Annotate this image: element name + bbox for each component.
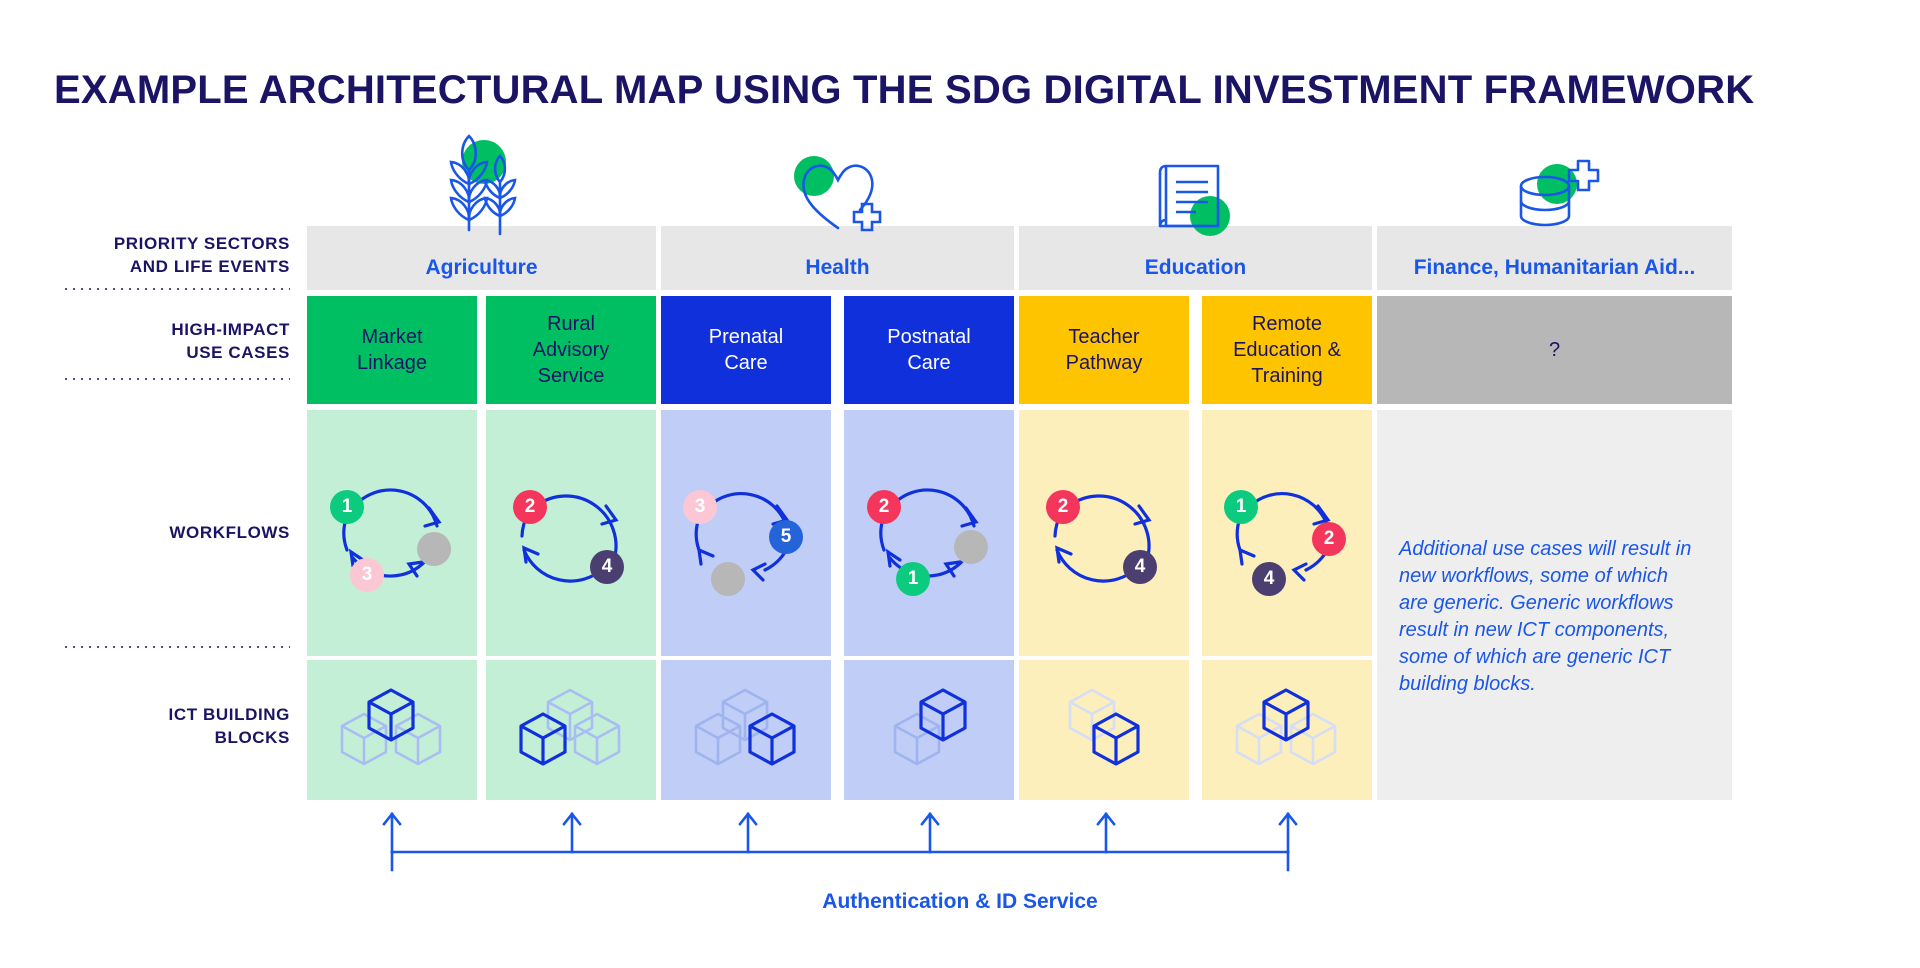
row-label-use-cases-line1: HIGH-IMPACT <box>60 318 290 341</box>
use-case-market-linkage-line2: Linkage <box>357 350 427 376</box>
wheat-icon <box>307 130 656 238</box>
divider-workflows <box>62 646 290 648</box>
use-case-unknown-label: ? <box>1549 337 1560 363</box>
sector-health[interactable]: Health <box>661 226 1014 290</box>
use-case-teacher-line2: Pathway <box>1066 350 1143 376</box>
workflow-node-generic <box>417 532 451 566</box>
cubes-icon <box>1019 660 1189 782</box>
use-case-remote-line3: Training <box>1233 363 1341 389</box>
row-label-building-blocks: ICT BUILDING BLOCKS <box>60 703 290 749</box>
heart-cross-icon <box>661 150 1014 238</box>
workflow-node-1: 1 <box>896 562 930 596</box>
use-case-teacher-line1: Teacher <box>1066 324 1143 350</box>
row-label-priority-sectors-line1: PRIORITY SECTORS <box>60 232 290 255</box>
sector-label-health: Health <box>661 256 1014 280</box>
use-case-market-linkage[interactable]: Market Linkage <box>307 296 477 404</box>
building-blocks-postnatal-care[interactable] <box>844 660 1014 800</box>
workflow-node-3-label: 3 <box>695 496 706 518</box>
row-label-workflows-text: WORKFLOWS <box>60 521 290 544</box>
building-blocks-rural-advisory[interactable] <box>486 660 656 800</box>
use-case-postnatal-line1: Postnatal <box>887 324 970 350</box>
workflow-node-5-label: 5 <box>781 526 792 548</box>
sector-label-finance: Finance, Humanitarian Aid... <box>1377 256 1732 280</box>
row-label-workflows: WORKFLOWS <box>60 521 290 544</box>
workflow-node-1-label: 1 <box>1236 496 1247 518</box>
use-case-postnatal-line2: Care <box>887 350 970 376</box>
divider-sectors <box>62 288 290 290</box>
book-icon <box>1019 154 1372 238</box>
workflow-remote-education[interactable]: 1 2 4 <box>1202 410 1372 656</box>
sector-label-education: Education <box>1019 256 1372 280</box>
workflow-node-4: 4 <box>1123 550 1157 584</box>
building-blocks-remote-education[interactable] <box>1202 660 1372 800</box>
sector-education[interactable]: Education <box>1019 226 1372 290</box>
workflow-node-3-label: 3 <box>362 564 373 586</box>
row-label-priority-sectors: PRIORITY SECTORS AND LIFE EVENTS <box>60 232 290 278</box>
row-label-building-blocks-line1: ICT BUILDING <box>60 703 290 726</box>
workflow-node-1: 1 <box>330 490 364 524</box>
cubes-icon <box>844 660 1014 782</box>
building-blocks-market-linkage[interactable] <box>307 660 477 800</box>
use-case-prenatal-care[interactable]: Prenatal Care <box>661 296 831 404</box>
workflow-teacher-pathway[interactable]: 2 4 <box>1019 410 1189 656</box>
use-case-rural-advisory-line1: Rural <box>533 311 610 337</box>
workflow-node-2-label: 2 <box>879 496 890 518</box>
row-label-building-blocks-line2: BLOCKS <box>60 726 290 749</box>
workflow-node-3: 3 <box>350 558 384 592</box>
authentication-service-label: Authentication & ID Service <box>0 890 1920 914</box>
workflow-node-2: 2 <box>513 490 547 524</box>
authentication-bus-connector <box>300 800 1400 880</box>
finance-note-text: Additional use cases will result in new … <box>1399 536 1699 698</box>
workflow-postnatal-care[interactable]: 2 1 <box>844 410 1014 656</box>
use-case-remote-line1: Remote <box>1233 311 1341 337</box>
cubes-icon <box>661 660 831 782</box>
workflow-node-4: 4 <box>590 550 624 584</box>
workflow-node-4-label: 4 <box>1135 556 1146 578</box>
use-case-rural-advisory-line3: Service <box>533 363 610 389</box>
page-title: EXAMPLE ARCHITECTURAL MAP USING THE SDG … <box>54 68 1754 113</box>
use-case-market-linkage-line1: Market <box>357 324 427 350</box>
row-label-use-cases: HIGH-IMPACT USE CASES <box>60 318 290 364</box>
workflow-node-2: 2 <box>1046 490 1080 524</box>
architecture-map: EXAMPLE ARCHITECTURAL MAP USING THE SDG … <box>0 0 1920 968</box>
use-case-prenatal-line2: Care <box>709 350 784 376</box>
workflow-prenatal-care[interactable]: 3 5 <box>661 410 831 656</box>
workflow-node-generic <box>954 530 988 564</box>
workflow-node-4: 4 <box>1252 562 1286 596</box>
workflow-market-linkage[interactable]: 1 3 <box>307 410 477 656</box>
workflow-rural-advisory[interactable]: 2 4 <box>486 410 656 656</box>
use-case-rural-advisory-line2: Advisory <box>533 337 610 363</box>
database-cross-icon <box>1377 156 1732 240</box>
building-blocks-prenatal-care[interactable] <box>661 660 831 800</box>
sector-finance[interactable]: Finance, Humanitarian Aid... <box>1377 226 1732 290</box>
workflow-node-2: 2 <box>1312 522 1346 556</box>
sector-label-agriculture: Agriculture <box>307 256 656 280</box>
cubes-icon <box>1202 660 1372 782</box>
use-case-unknown[interactable]: ? <box>1377 296 1732 404</box>
sector-agriculture[interactable]: Agriculture <box>307 226 656 290</box>
use-case-prenatal-line1: Prenatal <box>709 324 784 350</box>
workflow-node-2: 2 <box>867 490 901 524</box>
workflow-node-4-label: 4 <box>602 556 613 578</box>
building-blocks-teacher-pathway[interactable] <box>1019 660 1189 800</box>
cubes-icon <box>486 660 656 782</box>
workflow-node-1-label: 1 <box>342 496 353 518</box>
cubes-icon <box>307 660 477 782</box>
use-case-teacher-pathway[interactable]: Teacher Pathway <box>1019 296 1189 404</box>
finance-note-panel: Additional use cases will result in new … <box>1377 410 1732 800</box>
workflow-node-2-label: 2 <box>1324 528 1335 550</box>
workflow-node-2-label: 2 <box>525 496 536 518</box>
workflow-node-4-label: 4 <box>1264 568 1275 590</box>
workflow-node-generic <box>711 562 745 596</box>
use-case-remote-education[interactable]: Remote Education & Training <box>1202 296 1372 404</box>
divider-use-cases <box>62 378 290 380</box>
use-case-remote-line2: Education & <box>1233 337 1341 363</box>
workflow-node-5: 5 <box>769 520 803 554</box>
workflow-node-3: 3 <box>683 490 717 524</box>
workflow-node-1: 1 <box>1224 490 1258 524</box>
use-case-rural-advisory-service[interactable]: Rural Advisory Service <box>486 296 656 404</box>
use-case-postnatal-care[interactable]: Postnatal Care <box>844 296 1014 404</box>
workflow-node-1-label: 1 <box>908 568 919 590</box>
row-label-use-cases-line2: USE CASES <box>60 341 290 364</box>
workflow-node-2-label: 2 <box>1058 496 1069 518</box>
row-label-priority-sectors-line2: AND LIFE EVENTS <box>60 255 290 278</box>
